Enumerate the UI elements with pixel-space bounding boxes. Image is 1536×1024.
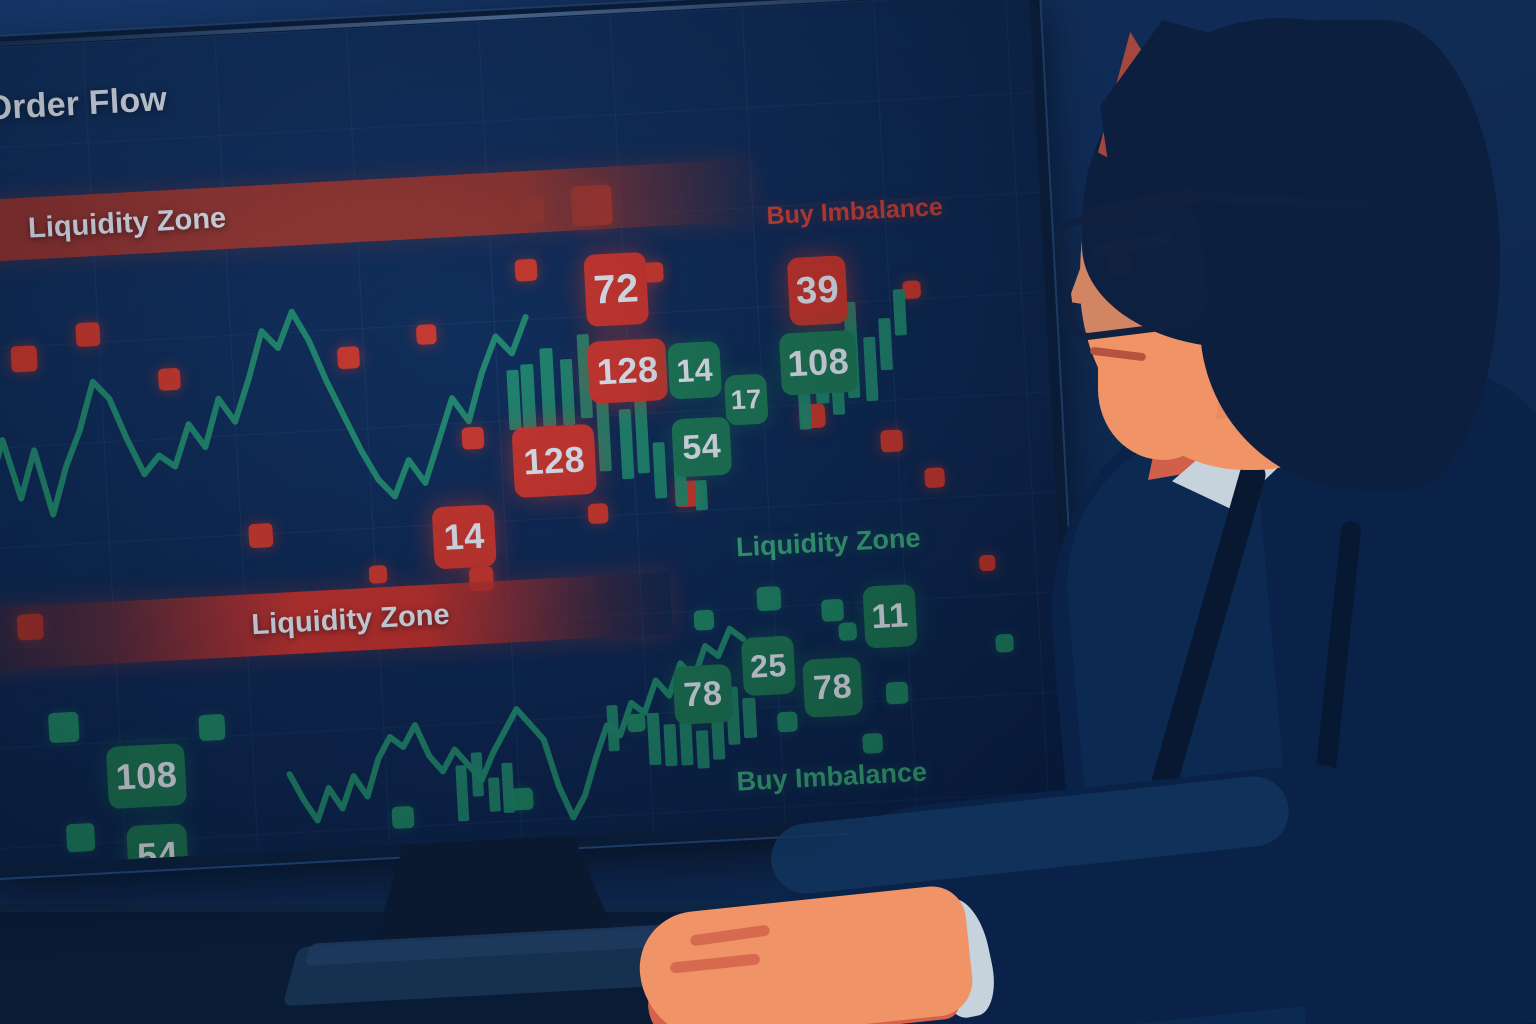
candlestick — [893, 289, 907, 336]
liquidity-zone-label: Liquidity Zone — [251, 598, 451, 641]
order-flow-cell-buy — [198, 714, 225, 741]
order-flow-cell-sell — [924, 467, 945, 488]
candlestick — [488, 777, 501, 812]
candlestick — [471, 752, 484, 797]
liquidity-zone-label: Liquidity Zone — [27, 202, 227, 245]
monitor-screen[interactable]: Order Flow Liquidity Zone Liquidity Zone… — [0, 0, 1073, 866]
order-flow-cell-buy — [693, 610, 714, 631]
candlestick — [696, 730, 710, 769]
glasses-lens — [1055, 204, 1211, 342]
imbalance-badge[interactable]: 17 — [724, 374, 769, 426]
imbalance-badge[interactable]: 128 — [511, 424, 597, 498]
imbalance-badge[interactable]: 128 — [587, 338, 668, 404]
imbalance-badge[interactable]: 54 — [671, 417, 732, 478]
imbalance-badge[interactable]: 14 — [432, 504, 497, 569]
hair-quiff — [1100, 20, 1220, 180]
candlestick — [695, 480, 709, 511]
imbalance-badge[interactable]: 14 — [667, 341, 722, 400]
order-flow-cell-sell — [75, 322, 100, 347]
candlestick — [663, 724, 677, 767]
order-flow-cell-buy — [391, 806, 414, 829]
order-flow-cell-buy — [886, 681, 909, 704]
order-flow-cell-buy — [756, 586, 781, 611]
order-flow-cell-sell — [337, 346, 360, 369]
imbalance-badge[interactable]: 39 — [787, 255, 849, 326]
order-flow-cell-buy — [821, 599, 844, 622]
order-flow-cell-sell — [369, 565, 388, 584]
imbalance-badge[interactable]: 108 — [779, 330, 858, 396]
imbalance-badge[interactable]: 11 — [862, 584, 917, 649]
order-flow-cell-sell — [416, 324, 437, 345]
imbalance-badge[interactable]: 78 — [672, 664, 733, 725]
trader-figure — [1020, 0, 1536, 1024]
order-flow-cell-sell — [515, 259, 538, 282]
order-flow-cell-buy — [48, 712, 80, 744]
screenshot-canvas: Order Flow Liquidity Zone Liquidity Zone… — [0, 0, 1536, 1024]
order-flow-cell-sell — [880, 429, 903, 452]
imbalance-badge[interactable]: 72 — [583, 252, 649, 327]
order-flow-cell-buy — [838, 622, 857, 641]
order-flow-cell-sell — [461, 427, 484, 450]
order-flow-cell-sell — [588, 503, 609, 524]
imbalance-badge[interactable]: 78 — [802, 657, 863, 718]
order-flow-cell-buy — [995, 634, 1014, 653]
order-flow-cell-buy — [66, 823, 95, 852]
imbalance-badge[interactable]: 108 — [106, 743, 187, 809]
hair-back — [1200, 20, 1500, 490]
order-flow-cell-buy — [862, 733, 883, 754]
order-flow-cell-buy — [777, 711, 798, 732]
candlestick — [742, 698, 757, 739]
order-flow-cell-buy — [627, 713, 646, 732]
order-flow-cell-sell — [10, 345, 37, 372]
order-flow-cell-sell — [158, 368, 181, 391]
order-flow-cell-sell — [248, 523, 273, 548]
imbalance-badge[interactable]: 25 — [741, 635, 796, 696]
trading-monitor: Order Flow Liquidity Zone Liquidity Zone… — [0, 0, 1095, 909]
order-flow-cell-sell — [979, 555, 996, 572]
